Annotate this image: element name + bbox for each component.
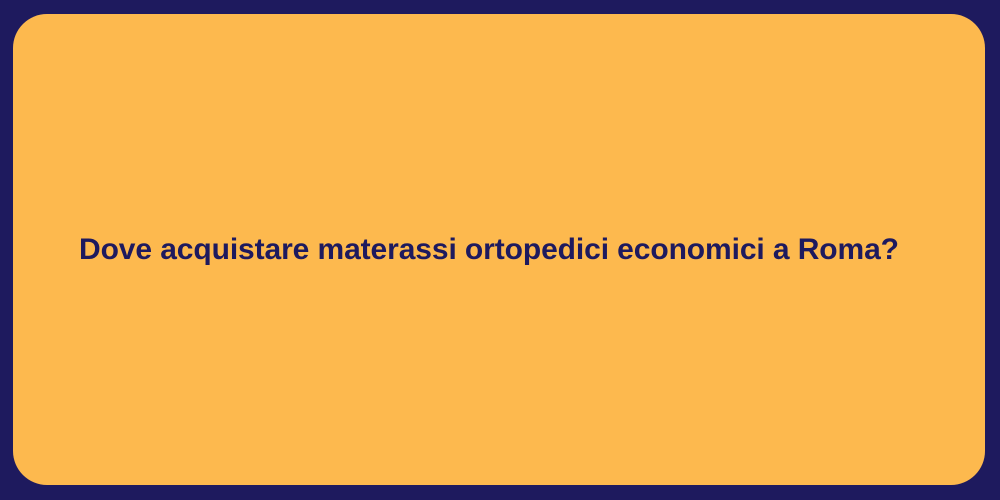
faq-card: Dove acquistare materassi ortopedici eco… xyxy=(13,14,985,485)
faq-question-heading: Dove acquistare materassi ortopedici eco… xyxy=(13,231,939,269)
faq-canvas: Dove acquistare materassi ortopedici eco… xyxy=(0,0,1000,500)
